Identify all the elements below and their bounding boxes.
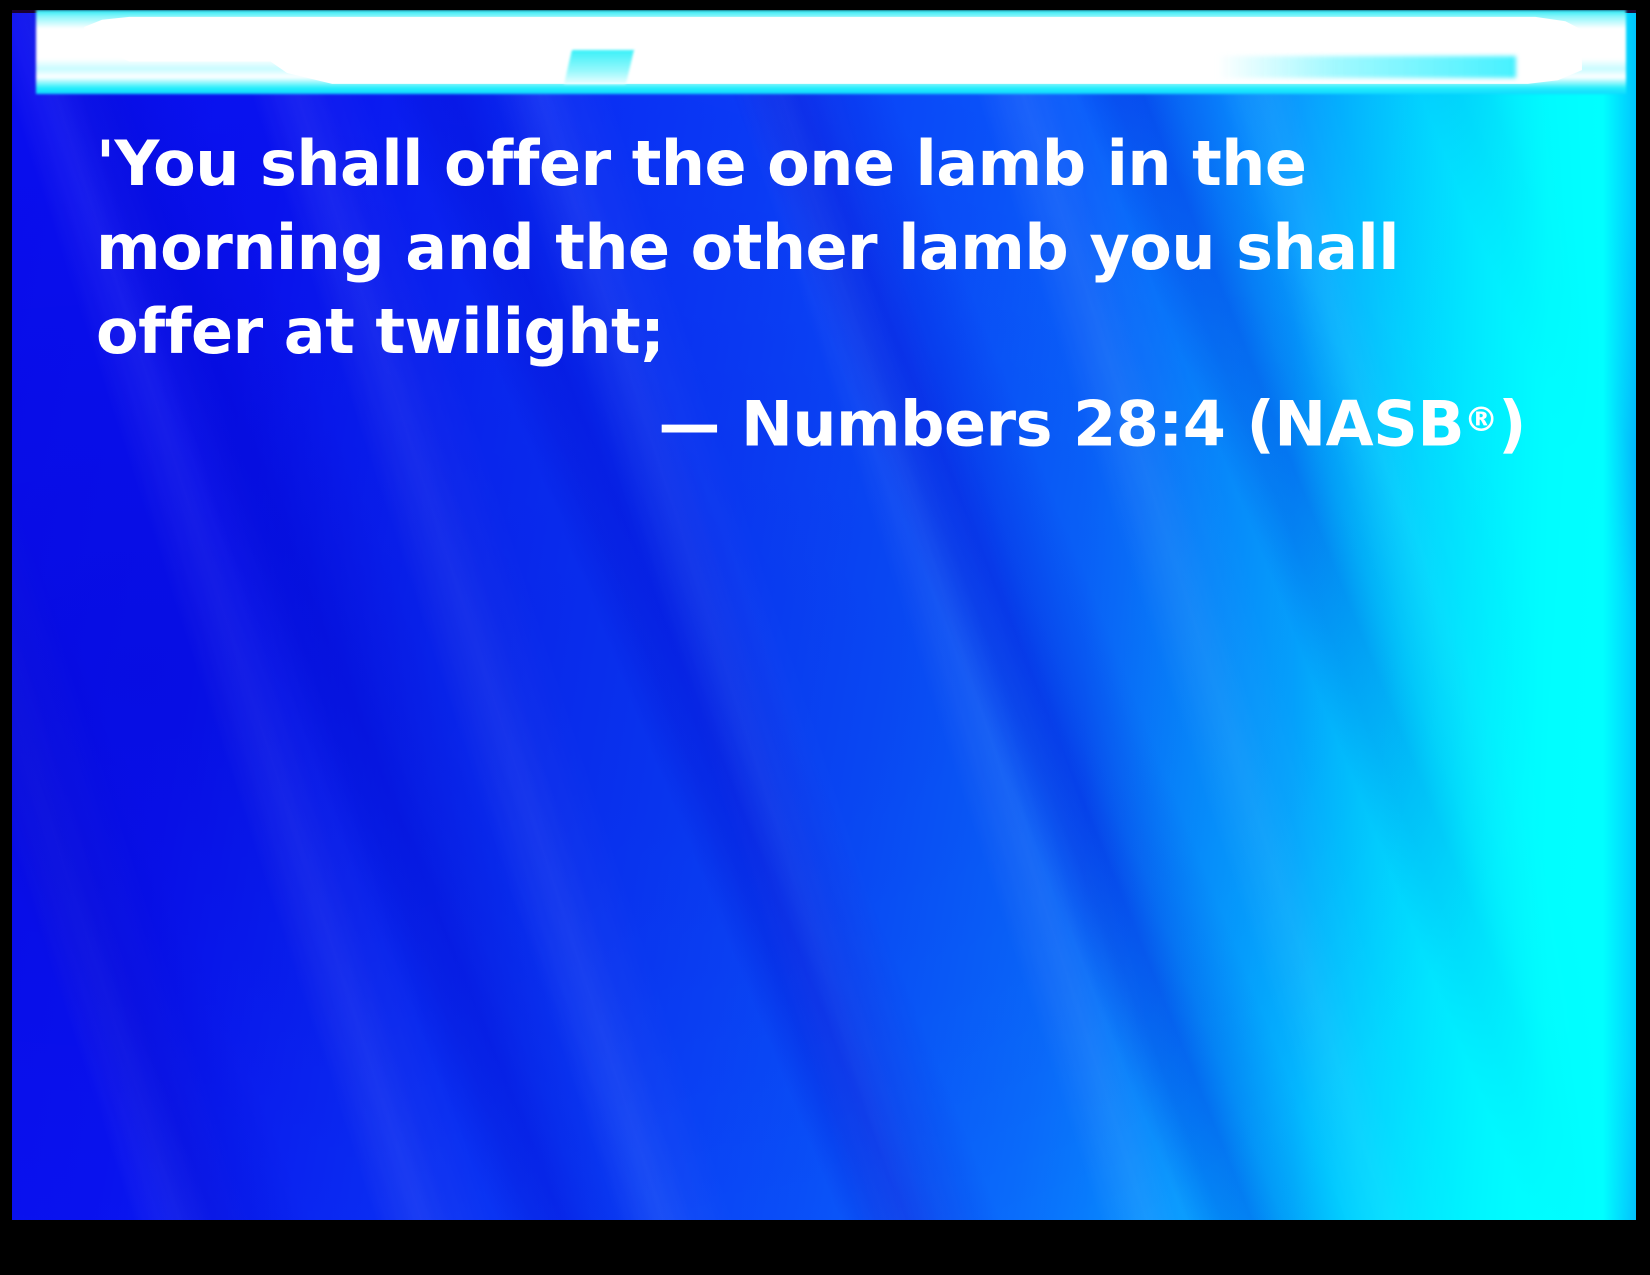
citation-version-close: ) [1498,387,1526,460]
citation-reference: 28:4 [1073,387,1225,460]
verse-citation: — Numbers 28:4 (NASB®) [96,378,1526,466]
verse-line-3: offer at twilight; [96,290,1526,374]
verse-line-2: morning and the other lamb you shall [96,206,1526,290]
citation-version-open: (NASB [1246,387,1464,460]
citation-book: Numbers [741,387,1052,460]
verse-line-1: 'You shall offer the one lamb in the [96,122,1526,206]
verse-text-block: 'You shall offer the one lamb in the mor… [96,122,1526,374]
citation-em-dash: — [658,387,720,460]
registered-trademark-icon: ® [1464,400,1498,440]
bible-verse-slide: 'You shall offer the one lamb in the mor… [0,0,1650,1275]
slide-canvas: 'You shall offer the one lamb in the mor… [12,10,1636,1220]
